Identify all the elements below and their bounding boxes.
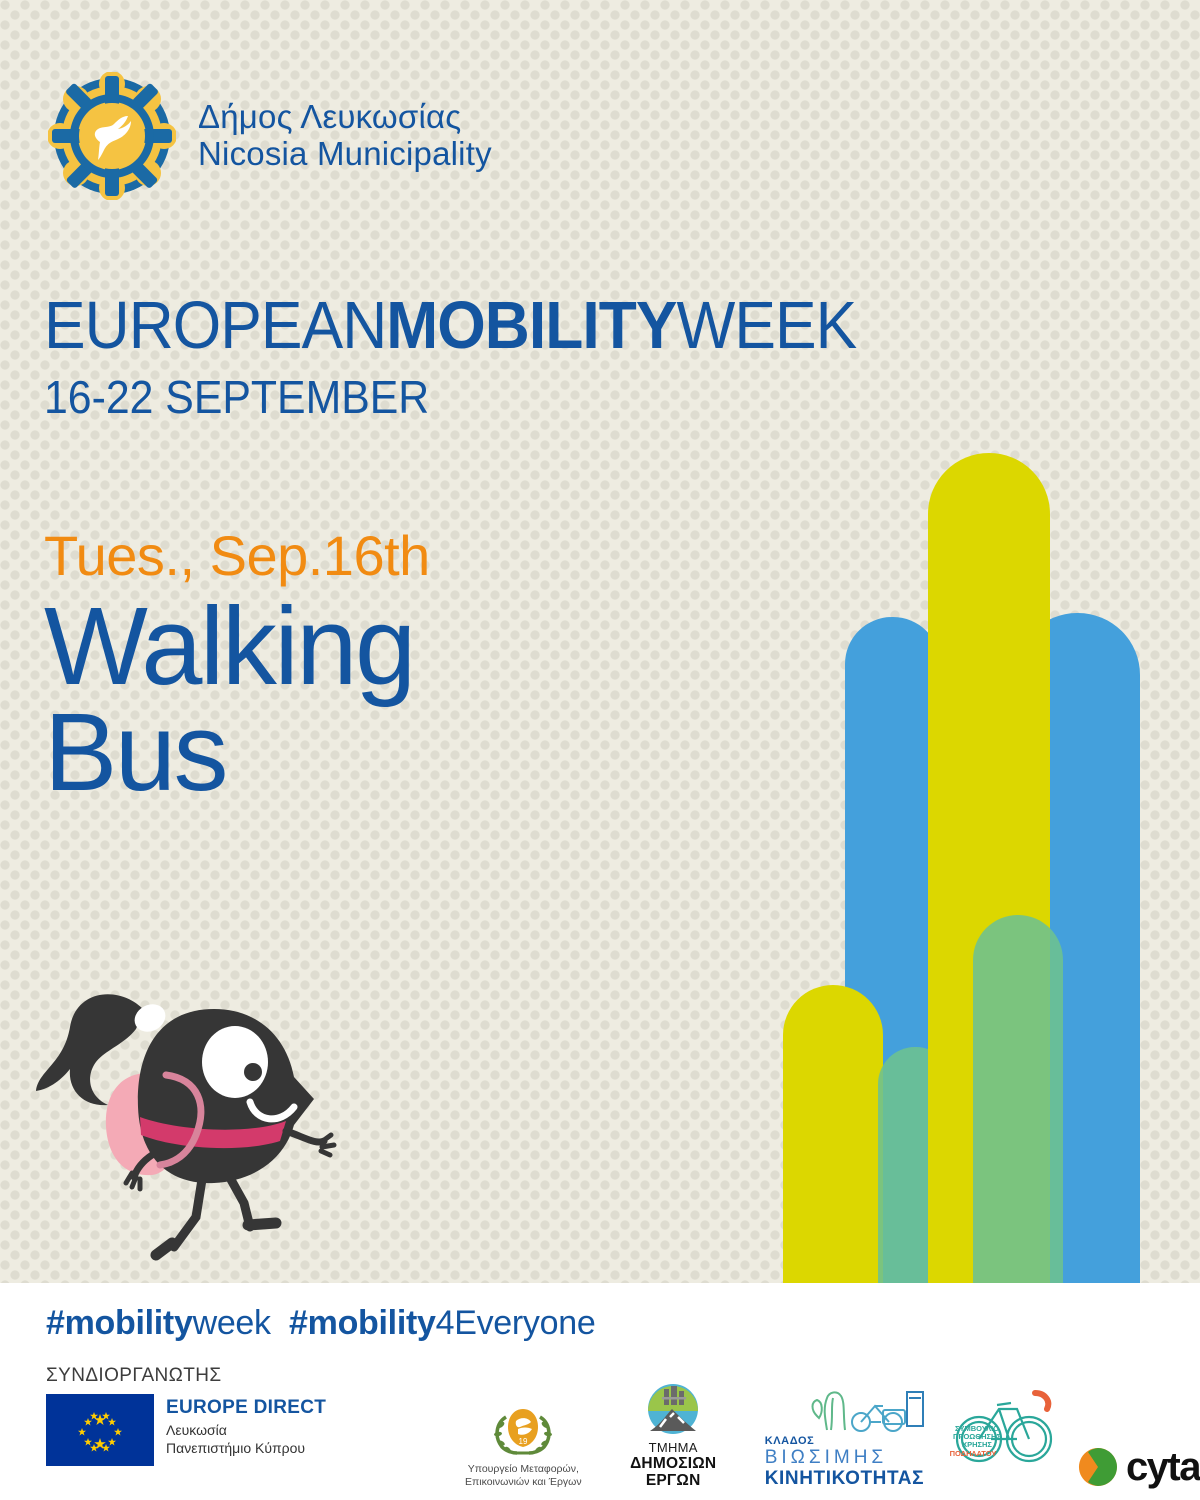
walking-character-with-backpack <box>28 955 373 1275</box>
municipality-name-gr: Δήμος Λευκωσίας <box>198 99 492 136</box>
mascot-hand-front <box>320 1135 334 1155</box>
bar-yellow-short-left <box>783 985 883 1283</box>
mascot-pupil <box>244 1063 262 1081</box>
public-works-caption-line2: ΔΗΜΟΣΙΩΝ ΕΡΓΩΝ <box>604 1455 743 1489</box>
hashtag-mobilityweek-bold: #mobility <box>46 1304 193 1342</box>
campaign-title-european: EUROPEAN <box>44 288 386 363</box>
cycling-promotion-council-icon: ΣΥΜΒΟΥΛΙΟ ΠΡΟΩΘΗΣΗΣ ΧΡΗΣΗΣ ΠΟΔΗΛΑΤΟΥ <box>947 1387 1059 1471</box>
event-date: Tues., Sep.16th <box>44 527 430 586</box>
cyprus-coat-of-arms-icon: 19 <box>484 1403 562 1461</box>
mascot-hand-back <box>126 1173 140 1189</box>
council-text-line4: ΠΟΔΗΛΑΤΟΥ <box>949 1449 996 1458</box>
bar-green-mid <box>973 915 1063 1283</box>
cyta-wordmark: cyta <box>1126 1447 1200 1487</box>
municipality-name-en: Nicosia Municipality <box>198 136 492 173</box>
mascot-arm-front <box>286 1131 324 1142</box>
sustainable-mobility-icon <box>765 1386 925 1438</box>
partner-cycling-council: ΣΥΜΒΟΥΛΙΟ ΠΡΟΩΘΗΣΗΣ ΧΡΗΣΗΣ ΠΟΔΗΛΑΤΟΥ <box>947 1405 1054 1489</box>
eu-flag-icon <box>46 1394 154 1466</box>
hashtag-mobilityweek-rest: week <box>193 1304 271 1342</box>
campaign-dates: 16-22 SEPTEMBER <box>44 370 856 424</box>
municipality-logo: Δήμος Λευκωσίας Nicosia Municipality <box>48 72 492 200</box>
poster: Δήμος Λευκωσίας Nicosia Municipality EUR… <box>0 0 1200 1500</box>
partner-logos: 19 Υπουργείο <box>465 1383 1200 1489</box>
europe-direct-line2: Πανεπιστήμιο Κύπρου <box>166 1439 326 1457</box>
event-title-line2: Bus <box>44 698 430 808</box>
council-text-line3: ΧΡΗΣΗΣ <box>962 1440 992 1449</box>
coorganizer-label: ΣΥΝΔΙΟΡΓΑΝΩΤΗΣ <box>46 1365 222 1387</box>
mascot-foot-front <box>248 1223 276 1225</box>
hashtags: #mobilityweek #mobility4Everyone <box>46 1304 595 1343</box>
public-works-department-icon <box>642 1383 704 1439</box>
europe-direct-title: EUROPE DIRECT <box>166 1397 326 1419</box>
event-title-line1: Walking <box>44 592 430 702</box>
hashtag-mobility4everyone-bold: #mobility <box>289 1304 436 1342</box>
partner-cyta: cyta <box>1076 1445 1200 1489</box>
campaign-title-block: EUROPEANMOBILITYWEEK 16-22 SEPTEMBER <box>44 287 917 424</box>
europe-direct-line1: Λευκωσία <box>166 1421 326 1439</box>
svg-text:19: 19 <box>519 1437 528 1446</box>
ministry-caption-line2: Επικοινωνιών και Έργων <box>465 1476 582 1489</box>
partner-sustainable-mobility: ΚΛΑΔΟΣ ΒΙΩΣΙΜΗΣ ΚΙΝΗΤΙΚΟΤΗΤΑΣ <box>765 1386 925 1489</box>
nicosia-municipality-crest-icon <box>48 72 176 200</box>
mascot-foot-back <box>156 1243 172 1255</box>
europe-direct-logo: EUROPE DIRECT Λευκωσία Πανεπιστήμιο Κύπρ… <box>46 1394 326 1466</box>
mascot-eye <box>202 1026 268 1098</box>
campaign-title-mobility: MOBILITY <box>386 288 676 363</box>
partner-ministry-transport: 19 Υπουργείο <box>465 1403 582 1489</box>
cyta-logo-icon <box>1076 1445 1120 1489</box>
sustainable-mobility-line3: ΚΙΝΗΤΙΚΟΤΗΤΑΣ <box>765 1469 924 1490</box>
event-block: Tues., Sep.16th Walking Bus <box>44 527 430 804</box>
sustainable-mobility-line2: ΒΙΩΣΙΜΗΣ <box>765 1448 887 1469</box>
poster-background: Δήμος Λευκωσίας Nicosia Municipality EUR… <box>0 0 1200 1283</box>
public-works-caption-line1: ΤΜΗΜΑ <box>604 1441 743 1455</box>
partner-public-works: ΤΜΗΜΑ ΔΗΜΟΣΙΩΝ ΕΡΓΩΝ <box>604 1383 743 1489</box>
campaign-title: EUROPEANMOBILITYWEEK <box>44 287 856 364</box>
campaign-title-week: WEEK <box>677 288 857 363</box>
hashtag-mobility4everyone-rest: 4Everyone <box>436 1304 596 1342</box>
ministry-caption-line1: Υπουργείο Μεταφορών, <box>465 1463 582 1476</box>
poster-footer: #mobilityweek #mobility4Everyone ΣΥΝΔΙΟΡ… <box>0 1283 1200 1500</box>
event-title: Walking Bus <box>44 592 430 808</box>
